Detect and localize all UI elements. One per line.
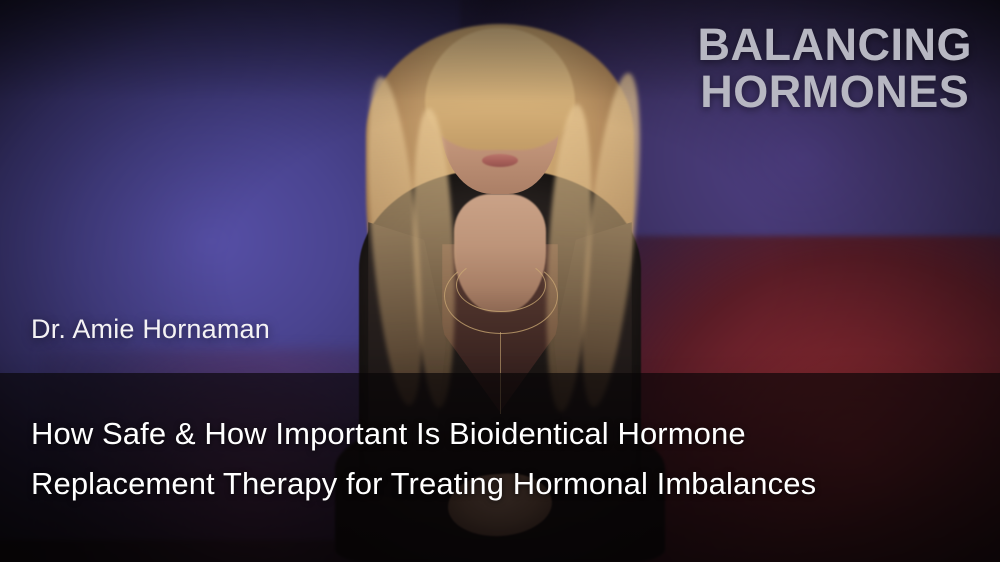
topic-label: BALANCING HORMONES [698,22,972,116]
video-title-line-1: How Safe & How Important Is Bioidentical… [31,409,978,459]
speaker-name: Dr. Amie Hornaman [31,314,270,345]
title-band: How Safe & How Important Is Bioidentical… [0,373,1000,562]
topic-label-line-2: HORMONES [698,69,972,116]
video-title: How Safe & How Important Is Bioidentical… [31,409,978,509]
video-thumbnail: BALANCING HORMONES Dr. Amie Hornaman How… [0,0,1000,562]
video-title-line-2: Replacement Therapy for Treating Hormona… [31,459,978,509]
topic-label-line-1: BALANCING [698,22,972,69]
